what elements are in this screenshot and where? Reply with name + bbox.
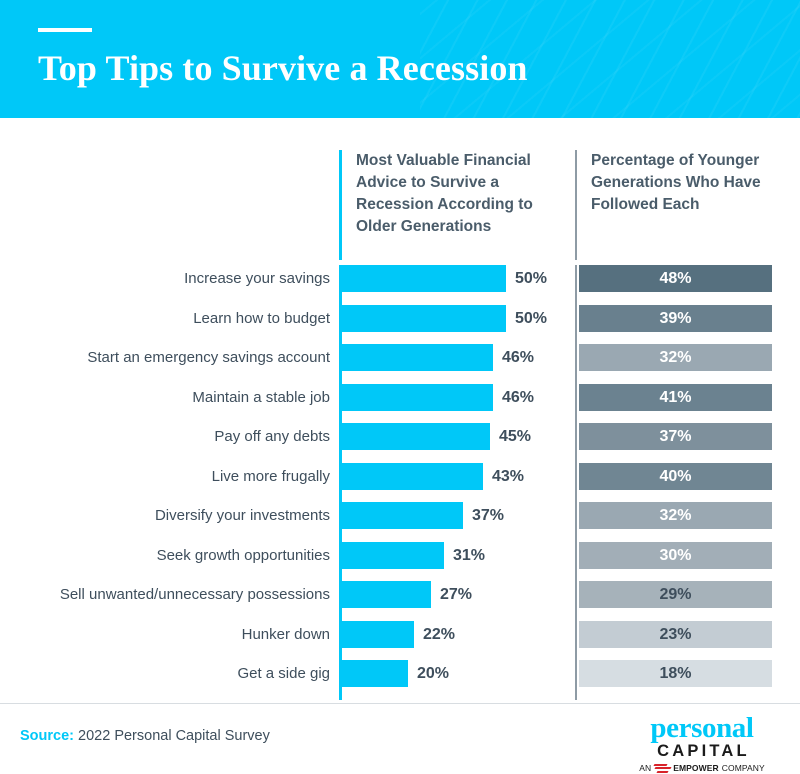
left-bar-track: 27% bbox=[339, 581, 575, 621]
footer: Source: 2022 Personal Capital Survey per… bbox=[0, 703, 800, 774]
advice-bar bbox=[342, 542, 444, 569]
column-headers: Most Valuable Financial Advice to Surviv… bbox=[0, 150, 800, 260]
logo-tagline: AN EMPOWER COMPANY bbox=[622, 763, 782, 773]
advice-bar bbox=[342, 384, 493, 411]
left-bar-track: 37% bbox=[339, 502, 575, 542]
advice-bar-value: 46% bbox=[502, 384, 534, 411]
advice-bar-value: 22% bbox=[423, 621, 455, 648]
row-label: Start an emergency savings account bbox=[0, 344, 330, 371]
left-bar-track: 31% bbox=[339, 542, 575, 582]
left-bar-track: 46% bbox=[339, 344, 575, 384]
column-header-left: Most Valuable Financial Advice to Surviv… bbox=[339, 150, 567, 260]
row-label: Hunker down bbox=[0, 621, 330, 648]
row-label: Maintain a stable job bbox=[0, 384, 330, 411]
left-bar-track: 43% bbox=[339, 463, 575, 503]
followed-bar: 41% bbox=[579, 384, 772, 411]
chart-row: Get a side gig20%18% bbox=[0, 660, 800, 700]
row-label: Get a side gig bbox=[0, 660, 330, 687]
right-bar-track: 48% bbox=[575, 265, 785, 305]
advice-bar bbox=[342, 581, 431, 608]
followed-bar: 37% bbox=[579, 423, 772, 450]
chart-row: Live more frugally43%40% bbox=[0, 463, 800, 503]
advice-bar-value: 20% bbox=[417, 660, 449, 687]
chart-row: Maintain a stable job46%41% bbox=[0, 384, 800, 424]
logo-tagline-company: COMPANY bbox=[722, 763, 765, 773]
chart-row: Sell unwanted/unnecessary possessions27%… bbox=[0, 581, 800, 621]
advice-bar-value: 46% bbox=[502, 344, 534, 371]
chart-row: Increase your savings50%48% bbox=[0, 265, 800, 305]
followed-bar: 40% bbox=[579, 463, 772, 490]
followed-bar: 23% bbox=[579, 621, 772, 648]
chart-row: Seek growth opportunities31%30% bbox=[0, 542, 800, 582]
advice-bar-value: 31% bbox=[453, 542, 485, 569]
advice-bar-value: 37% bbox=[472, 502, 504, 529]
row-label: Learn how to budget bbox=[0, 305, 330, 332]
column-header-right: Percentage of Younger Generations Who Ha… bbox=[575, 150, 785, 260]
chart-row: Start an emergency savings account46%32% bbox=[0, 344, 800, 384]
advice-bar bbox=[342, 463, 483, 490]
logo-wordmark-personal: personal bbox=[622, 714, 782, 742]
right-bar-track: 32% bbox=[575, 344, 785, 384]
right-bar-track: 29% bbox=[575, 581, 785, 621]
empower-swoosh-icon bbox=[654, 764, 670, 773]
chart-rows: Increase your savings50%48%Learn how to … bbox=[0, 265, 800, 700]
advice-bar bbox=[342, 344, 493, 371]
left-bar-track: 50% bbox=[339, 265, 575, 305]
chart-row: Diversify your investments37%32% bbox=[0, 502, 800, 542]
chart-row: Learn how to budget50%39% bbox=[0, 305, 800, 345]
right-bar-track: 41% bbox=[575, 384, 785, 424]
advice-bar bbox=[342, 621, 414, 648]
advice-bar-value: 27% bbox=[440, 581, 472, 608]
advice-bar-value: 45% bbox=[499, 423, 531, 450]
left-bar-track: 46% bbox=[339, 384, 575, 424]
logo-tagline-an: AN bbox=[639, 763, 651, 773]
row-label: Seek growth opportunities bbox=[0, 542, 330, 569]
left-bar-track: 20% bbox=[339, 660, 575, 700]
source-text: 2022 Personal Capital Survey bbox=[78, 728, 270, 744]
source-label: Source: bbox=[20, 728, 74, 744]
right-bar-track: 32% bbox=[575, 502, 785, 542]
advice-bar-value: 50% bbox=[515, 305, 547, 332]
right-bar-track: 39% bbox=[575, 305, 785, 345]
title-rule bbox=[38, 28, 92, 32]
header-banner: Top Tips to Survive a Recession bbox=[0, 0, 800, 118]
followed-bar: 39% bbox=[579, 305, 772, 332]
advice-bar-value: 43% bbox=[492, 463, 524, 490]
advice-bar bbox=[342, 265, 506, 292]
followed-bar: 29% bbox=[579, 581, 772, 608]
row-label: Increase your savings bbox=[0, 265, 330, 292]
chart-row: Pay off any debts45%37% bbox=[0, 423, 800, 463]
logo-wordmark-capital: CAPITAL bbox=[622, 742, 782, 760]
left-bar-track: 50% bbox=[339, 305, 575, 345]
advice-bar bbox=[342, 660, 408, 687]
right-bar-track: 40% bbox=[575, 463, 785, 503]
chart-row: Hunker down22%23% bbox=[0, 621, 800, 661]
advice-bar bbox=[342, 305, 506, 332]
followed-bar: 48% bbox=[579, 265, 772, 292]
personal-capital-logo: personal CAPITAL AN EMPOWER COMPANY bbox=[622, 714, 782, 773]
advice-bar bbox=[342, 423, 490, 450]
right-bar-track: 18% bbox=[575, 660, 785, 700]
row-label: Sell unwanted/unnecessary possessions bbox=[0, 581, 330, 608]
advice-bar-value: 50% bbox=[515, 265, 547, 292]
row-label: Diversify your investments bbox=[0, 502, 330, 529]
left-bar-track: 22% bbox=[339, 621, 575, 661]
chart-area: Most Valuable Financial Advice to Surviv… bbox=[0, 118, 800, 703]
followed-bar: 32% bbox=[579, 502, 772, 529]
logo-tagline-empower: EMPOWER bbox=[673, 763, 719, 773]
row-label: Live more frugally bbox=[0, 463, 330, 490]
left-bar-track: 45% bbox=[339, 423, 575, 463]
page-title: Top Tips to Survive a Recession bbox=[38, 46, 528, 90]
right-bar-track: 30% bbox=[575, 542, 785, 582]
source-note: Source: 2022 Personal Capital Survey bbox=[20, 728, 270, 744]
right-bar-track: 23% bbox=[575, 621, 785, 661]
followed-bar: 30% bbox=[579, 542, 772, 569]
right-bar-track: 37% bbox=[575, 423, 785, 463]
row-label: Pay off any debts bbox=[0, 423, 330, 450]
followed-bar: 18% bbox=[579, 660, 772, 687]
followed-bar: 32% bbox=[579, 344, 772, 371]
advice-bar bbox=[342, 502, 463, 529]
